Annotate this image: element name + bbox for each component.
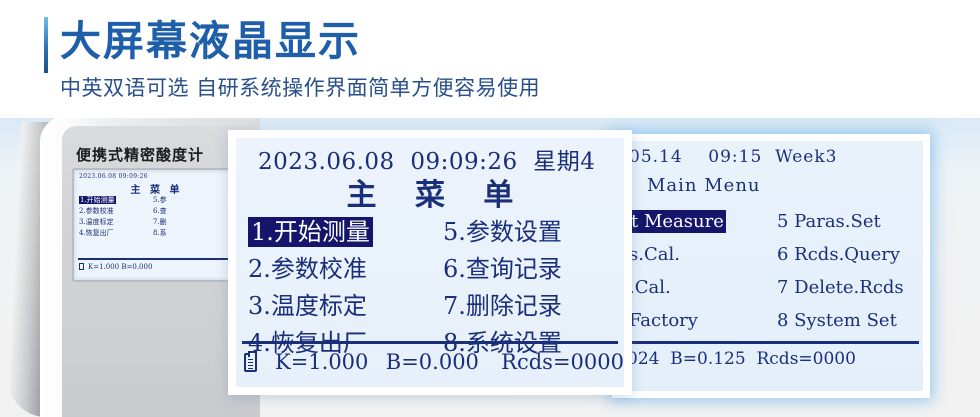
en-menu-item-2[interactable]: s.Cal. [629, 238, 777, 271]
en-status-bar: 05.14 09:15 Week3 [629, 147, 837, 167]
cn-divider [242, 341, 618, 344]
en-menu-item-5[interactable]: 5 Paras.Set [777, 205, 923, 238]
mini-lcd-status: 2023.06.08 09:09:26 [79, 173, 148, 180]
page-subtitle: 中英双语可选 自研系统操作界面简单方便容易使用 [60, 72, 540, 102]
mini-menu-item-1: 1.开始测量 [79, 196, 116, 204]
mini-footer-values: K=1.000 B=0.000 [88, 263, 152, 271]
en-menu-row: t Measure 5 Paras.Set [629, 205, 923, 238]
cn-menu-item-7[interactable]: 7.删除记录 [443, 288, 618, 325]
en-menu-item-8[interactable]: 8 System Set [777, 304, 923, 337]
lcd-screen-chinese: 2023.06.08 09:09:26 星期4 主 菜 单 1.开始测量 5.参… [228, 130, 632, 395]
en-menu-row: .Cal. 7 Delete.Rcds [629, 271, 923, 304]
device-brand-label: 便携式精密酸度计 [76, 144, 246, 165]
mini-lcd-divider [78, 258, 234, 260]
en-divider [627, 341, 919, 344]
mini-lcd-title: 主 菜 单 [74, 181, 237, 196]
lcd-english-inner: 05.14 09:15 Week3 Main Menu t Measure 5 … [619, 141, 923, 391]
cn-footer-b: B=0.000 [386, 350, 501, 374]
lcd-chinese-inner: 2023.06.08 09:09:26 星期4 主 菜 单 1.开始测量 5.参… [236, 138, 624, 387]
en-menu-item-4[interactable]: Factory [629, 304, 777, 337]
en-status-footer: 024 B=0.125 Rcds=0000 [627, 349, 923, 369]
page-title: 大屏幕液晶显示 [60, 14, 361, 69]
cn-menu-item-6[interactable]: 6.查询记录 [443, 251, 618, 288]
mini-menu-item-5: 5.参 [153, 195, 233, 206]
mini-menu-row: 4.恢复出厂 8.系 [79, 228, 237, 239]
mini-menu-row: 3.温度标定 7.删 [79, 217, 237, 228]
en-menu-item-7[interactable]: 7 Delete.Rcds [777, 271, 923, 304]
clipboard-icon [244, 353, 257, 372]
en-status-date: 05.14 [629, 147, 683, 167]
en-footer-rcds: Rcds=0000 [756, 349, 855, 369]
cn-menu-item-3[interactable]: 3.温度标定 [248, 288, 443, 325]
header-accent-bar [44, 17, 48, 73]
cn-menu-row: 2.参数校准 6.查询记录 [248, 251, 620, 288]
mini-lcd-menu: 1.开始测量 5.参 2.参数校准 6.查 3.温度标定 7.删 4.恢复出厂 … [79, 195, 237, 239]
en-menu-row: Factory 8 System Set [629, 304, 923, 337]
cn-footer-rcds: Rcds=0000 [501, 350, 624, 374]
page-header: 大屏幕液晶显示 中英双语可选 自研系统操作界面简单方便容易使用 [0, 0, 980, 118]
mini-lcd-footer: K=1.000 B=0.000 [79, 263, 152, 271]
mini-menu-item-2: 2.参数校准 [79, 206, 153, 217]
en-status-week: Week3 [775, 147, 837, 167]
cn-menu-item-5[interactable]: 5.参数设置 [443, 214, 618, 251]
mini-menu-item-3: 3.温度标定 [79, 217, 153, 228]
cn-status-footer: K=1.000 B=0.000 Rcds=0000 [244, 350, 624, 374]
mini-clipboard-icon [79, 263, 84, 270]
en-footer-b: B=0.125 [670, 349, 745, 369]
en-status-time: 09:15 [708, 147, 762, 167]
mini-menu-row: 1.开始测量 5.参 [79, 195, 237, 206]
en-menu-row: s.Cal. 6 Rcds.Query [629, 238, 923, 271]
device-mini-lcd: 2023.06.08 09:09:26 主 菜 单 1.开始测量 5.参 2.参… [72, 168, 237, 282]
lcd-screen-english: 05.14 09:15 Week3 Main Menu t Measure 5 … [612, 134, 930, 398]
cn-menu-title: 主 菜 单 [236, 170, 624, 214]
en-menu-item-6[interactable]: 6 Rcds.Query [777, 238, 923, 271]
en-menu-item-1[interactable]: t Measure [629, 210, 726, 233]
en-menu-item-3[interactable]: .Cal. [629, 271, 777, 304]
mini-menu-item-4: 4.恢复出厂 [79, 228, 153, 239]
mini-menu-item-6: 6.查 [153, 206, 233, 217]
cn-menu-item-1[interactable]: 1.开始测量 [248, 217, 373, 247]
en-menu-title: Main Menu [647, 175, 761, 196]
en-menu-list: t Measure 5 Paras.Set s.Cal. 6 Rcds.Quer… [629, 205, 923, 337]
cn-footer-k: K=1.000 [275, 350, 386, 374]
device-photo: 便携式精密酸度计 2023.06.08 09:09:26 主 菜 单 1.开始测… [0, 118, 260, 417]
cn-menu-row: 1.开始测量 5.参数设置 [248, 214, 620, 251]
mini-menu-item-8: 8.系 [153, 228, 233, 239]
cn-menu-list: 1.开始测量 5.参数设置 2.参数校准 6.查询记录 3.温度标定 7.删除记… [248, 214, 620, 362]
mini-menu-row: 2.参数校准 6.查 [79, 206, 237, 217]
cn-menu-row: 3.温度标定 7.删除记录 [248, 288, 620, 325]
cn-menu-item-2[interactable]: 2.参数校准 [248, 251, 443, 288]
mini-menu-item-7: 7.删 [153, 217, 233, 228]
